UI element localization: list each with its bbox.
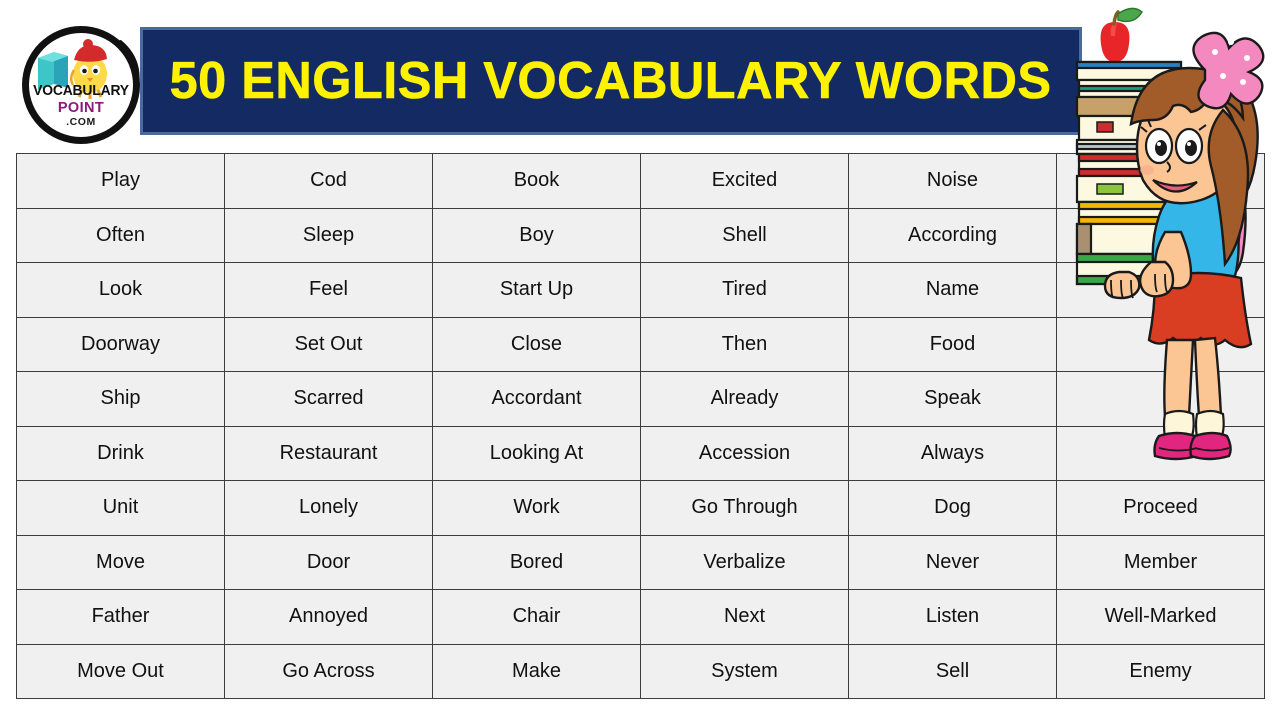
word-cell: Move Out <box>17 644 225 699</box>
word-cell: Restaurant <box>225 426 433 481</box>
table-row: MoveDoorBoredVerbalizeNeverMember <box>17 535 1265 590</box>
empty-cell <box>1057 372 1265 427</box>
word-cell: According <box>849 208 1057 263</box>
empty-cell <box>1057 154 1265 209</box>
vocabulary-word-table: PlayCodBookExcitedNoiseOftenSleepBoyShel… <box>16 153 1265 699</box>
empty-cell <box>1057 208 1265 263</box>
word-cell: Looking At <box>433 426 641 481</box>
empty-cell <box>1057 426 1265 481</box>
word-cell: Annoyed <box>225 590 433 645</box>
word-cell: Ship <box>17 372 225 427</box>
word-cell: Accession <box>641 426 849 481</box>
title-banner: 50 ENGLISH VOCABULARY WORDS <box>140 27 1082 135</box>
table-row: LookFeelStart UpTiredName <box>17 263 1265 318</box>
table-row: UnitLonelyWorkGo ThroughDogProceed <box>17 481 1265 536</box>
word-cell: Name <box>849 263 1057 318</box>
word-cell: Work <box>433 481 641 536</box>
word-cell: Scarred <box>225 372 433 427</box>
table-row: DrinkRestaurantLooking AtAccessionAlways <box>17 426 1265 481</box>
word-cell: Start Up <box>433 263 641 318</box>
word-cell: Drink <box>17 426 225 481</box>
word-cell: Go Through <box>641 481 849 536</box>
word-cell: Never <box>849 535 1057 590</box>
word-cell: Door <box>225 535 433 590</box>
word-cell: Excited <box>641 154 849 209</box>
empty-cell <box>1057 317 1265 372</box>
word-cell: Listen <box>849 590 1057 645</box>
word-cell: Dog <box>849 481 1057 536</box>
table-row: ShipScarredAccordantAlreadySpeak <box>17 372 1265 427</box>
word-cell: Book <box>433 154 641 209</box>
word-cell: Shell <box>641 208 849 263</box>
word-cell: Set Out <box>225 317 433 372</box>
word-cell: Verbalize <box>641 535 849 590</box>
word-cell: Noise <box>849 154 1057 209</box>
word-cell: Member <box>1057 535 1265 590</box>
word-cell: Lonely <box>225 481 433 536</box>
word-cell: Enemy <box>1057 644 1265 699</box>
empty-cell <box>1057 263 1265 318</box>
word-cell: Move <box>17 535 225 590</box>
word-cell: Father <box>17 590 225 645</box>
table-row: Move OutGo AcrossMakeSystemSellEnemy <box>17 644 1265 699</box>
word-cell: Doorway <box>17 317 225 372</box>
word-cell: Food <box>849 317 1057 372</box>
word-cell: Accordant <box>433 372 641 427</box>
word-cell: Then <box>641 317 849 372</box>
word-cell: Tired <box>641 263 849 318</box>
word-cell: Already <box>641 372 849 427</box>
word-cell: Feel <box>225 263 433 318</box>
word-cell: Next <box>641 590 849 645</box>
word-cell: Play <box>17 154 225 209</box>
table-row: PlayCodBookExcitedNoise <box>17 154 1265 209</box>
table-row: OftenSleepBoyShellAccording <box>17 208 1265 263</box>
word-cell: Speak <box>849 372 1057 427</box>
word-cell: Look <box>17 263 225 318</box>
table-row: FatherAnnoyedChairNextListenWell-Marked <box>17 590 1265 645</box>
word-cell: Sleep <box>225 208 433 263</box>
word-cell: Boy <box>433 208 641 263</box>
page-title: 50 ENGLISH VOCABULARY WORDS <box>170 51 1052 111</box>
word-cell: Often <box>17 208 225 263</box>
logo-badge-icon <box>18 22 144 148</box>
site-logo: VOCABULARY POINT .COM <box>18 22 144 148</box>
word-cell: Go Across <box>225 644 433 699</box>
word-cell: Chair <box>433 590 641 645</box>
word-cell: Well-Marked <box>1057 590 1265 645</box>
page-header: 50 ENGLISH VOCABULARY WORDS <box>0 0 1280 152</box>
word-cell: Always <box>849 426 1057 481</box>
word-cell: Make <box>433 644 641 699</box>
book-glyph <box>38 52 68 90</box>
vocabulary-table-body: PlayCodBookExcitedNoiseOftenSleepBoyShel… <box>17 154 1265 699</box>
word-cell: System <box>641 644 849 699</box>
table-row: DoorwaySet OutCloseThenFood <box>17 317 1265 372</box>
word-cell: Close <box>433 317 641 372</box>
word-cell: Bored <box>433 535 641 590</box>
word-cell: Sell <box>849 644 1057 699</box>
word-cell: Unit <box>17 481 225 536</box>
word-cell: Proceed <box>1057 481 1265 536</box>
word-cell: Cod <box>225 154 433 209</box>
